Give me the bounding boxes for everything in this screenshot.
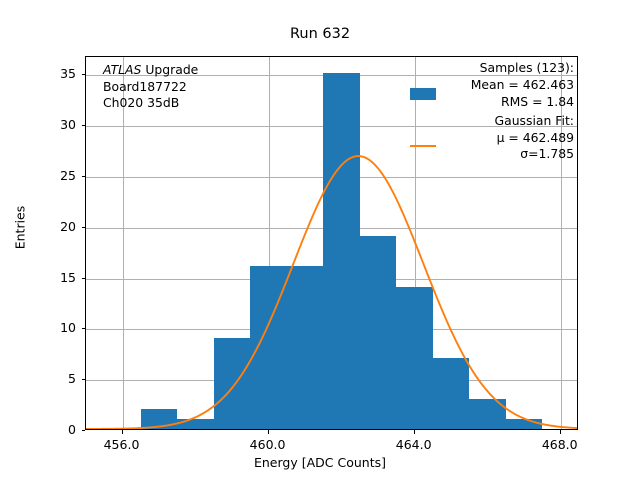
- annotation-line-board: Board187722: [103, 79, 198, 96]
- legend-swatch-samples: [404, 77, 442, 111]
- y-tick-mark: [82, 176, 86, 177]
- legend-fit-mu: μ = 462.489: [442, 130, 574, 147]
- x-axis-label: Energy [ADC Counts]: [0, 455, 640, 470]
- y-tick-mark: [82, 278, 86, 279]
- legend-samples-mean: Mean = 462.463: [442, 77, 574, 94]
- legend-samples-rms: RMS = 1.84: [442, 94, 574, 111]
- annotation-line-atlas: ATLAS Upgrade: [103, 62, 198, 79]
- y-tick-mark: [82, 125, 86, 126]
- x-tick-label: 468.0: [525, 437, 595, 452]
- x-tick-mark: [414, 430, 415, 434]
- legend-samples-stats: Mean = 462.463 RMS = 1.84: [442, 77, 574, 110]
- y-tick-mark: [82, 328, 86, 329]
- x-tick-label: 456.0: [87, 437, 157, 452]
- x-tick-mark: [560, 430, 561, 434]
- y-tick-mark: [82, 74, 86, 75]
- x-tick-label: 464.0: [379, 437, 449, 452]
- x-tick-label: 460.0: [233, 437, 303, 452]
- y-tick-label: 30: [36, 117, 76, 132]
- y-tick-mark: [82, 430, 86, 431]
- y-tick-mark: [82, 227, 86, 228]
- y-tick-label: 15: [36, 270, 76, 285]
- legend-samples-header: Samples (123):: [404, 60, 574, 77]
- legend-fit-stats: μ = 462.489 σ=1.785: [442, 130, 574, 163]
- x-tick-mark: [122, 430, 123, 434]
- legend-swatch-fit: [404, 129, 442, 163]
- y-tick-label: 0: [36, 422, 76, 437]
- page-title: Run 632: [0, 26, 640, 42]
- y-tick-mark: [82, 379, 86, 380]
- histogram-figure: Run 632 456.0460.0464.0468.0051015202530…: [0, 0, 640, 480]
- y-axis-label: Entries: [13, 148, 28, 308]
- y-tick-label: 25: [36, 168, 76, 183]
- legend: Samples (123): Mean = 462.463 RMS = 1.84…: [404, 60, 574, 165]
- legend-entry-fit: μ = 462.489 σ=1.785: [404, 129, 574, 163]
- legend-fit-sigma: σ=1.785: [442, 146, 574, 163]
- atlas-label: ATLAS: [103, 62, 141, 77]
- y-tick-label: 35: [36, 66, 76, 81]
- y-tick-label: 5: [36, 371, 76, 386]
- x-tick-mark: [268, 430, 269, 434]
- legend-entry-samples: Mean = 462.463 RMS = 1.84: [404, 77, 574, 111]
- y-tick-label: 10: [36, 320, 76, 335]
- y-tick-label: 20: [36, 219, 76, 234]
- upgrade-label: Upgrade: [141, 62, 198, 77]
- legend-fit-header: Gaussian Fit:: [404, 113, 574, 130]
- annotation-block: ATLAS Upgrade Board187722 Ch020 35dB: [103, 62, 198, 112]
- annotation-line-channel: Ch020 35dB: [103, 95, 198, 112]
